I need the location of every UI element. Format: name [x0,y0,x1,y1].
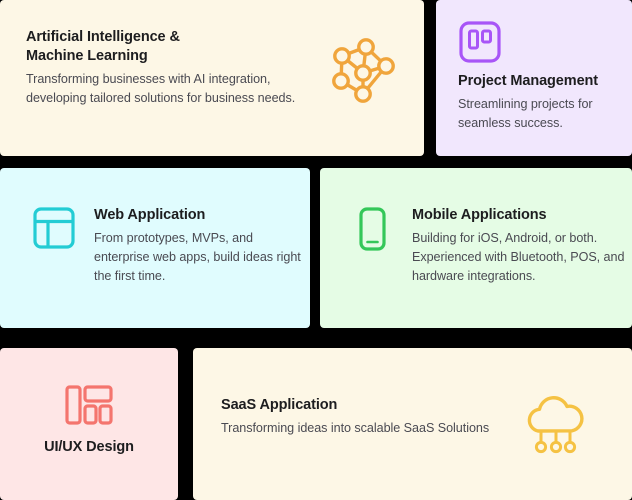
cloud-network-icon [522,393,590,457]
card-ai-title-line2: Machine Learning [26,48,148,64]
card-ai-text-block: Artificial Intelligence & Machine Learni… [26,28,316,109]
card-mobile-applications[interactable]: Mobile Applications Building for iOS, An… [320,168,632,328]
card-saas-application[interactable]: SaaS Application Transforming ideas into… [193,348,632,500]
card-web-text-block: Web Application From prototypes, MVPs, a… [94,206,304,287]
card-mobile-description: Building for iOS, Android, or both. Expe… [412,229,630,286]
card-web-content: Web Application From prototypes, MVPs, a… [32,206,304,287]
smartphone-icon [350,206,394,287]
trello-board-icon [458,20,502,64]
card-ai-description: Transforming businesses with AI integrat… [26,70,316,108]
card-mobile-title: Mobile Applications [412,206,630,225]
layout-dashboard-icon [32,206,76,287]
card-pm-text-block: Project Management Streamlining projects… [458,72,618,133]
card-web-description: From prototypes, MVPs, and enterprise we… [94,229,304,286]
card-saas-description: Transforming ideas into scalable SaaS So… [221,419,491,438]
card-mobile-text-block: Mobile Applications Building for iOS, An… [412,206,630,287]
card-pm-description: Streamlining projects for seamless succe… [458,95,618,133]
card-ai-title: Artificial Intelligence & Machine Learni… [26,28,316,66]
services-card-grid: Artificial Intelligence & Machine Learni… [0,0,632,500]
neural-network-icon [326,34,400,108]
card-ui-ux-design[interactable]: UI/UX Design [0,348,178,500]
card-web-title: Web Application [94,206,304,225]
card-web-application[interactable]: Web Application From prototypes, MVPs, a… [0,168,310,328]
card-saas-title: SaaS Application [221,396,491,415]
card-uiux-title: UI/UX Design [44,438,134,457]
card-uiux-content: UI/UX Design [0,384,178,457]
card-mobile-content: Mobile Applications Building for iOS, An… [350,206,630,287]
layout-grid-icon [64,384,114,426]
card-ai-title-line1: Artificial Intelligence & [26,29,180,45]
card-saas-text-block: SaaS Application Transforming ideas into… [221,396,491,438]
card-artificial-intelligence[interactable]: Artificial Intelligence & Machine Learni… [0,0,424,156]
card-project-management[interactable]: Project Management Streamlining projects… [436,0,632,156]
card-pm-title: Project Management [458,72,618,91]
